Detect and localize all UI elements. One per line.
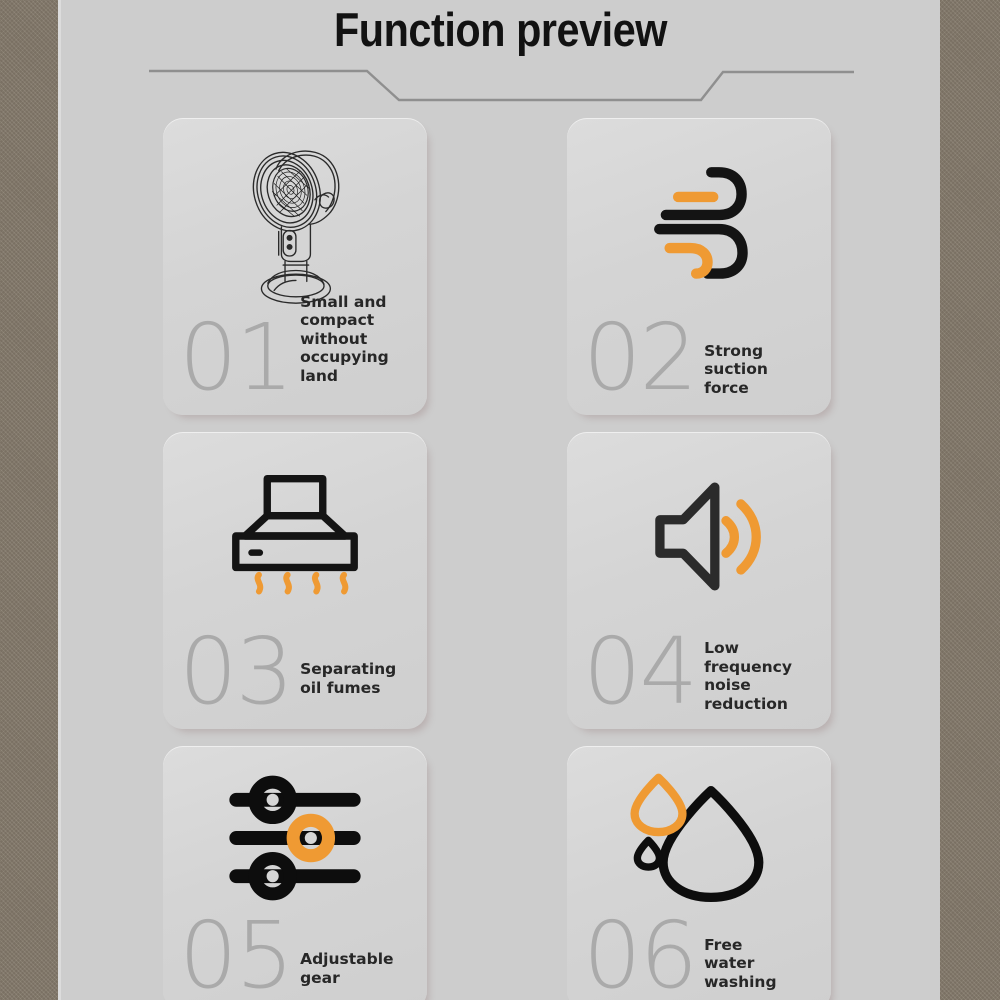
card-footer: 05 Adjustable gear <box>179 913 415 999</box>
feature-card-03[interactable]: 03 Separating oil fumes <box>163 432 427 729</box>
card-row-1: 01 Small and compact without occupying l… <box>163 118 831 415</box>
card-footer: 04 Low frequency noise reduction <box>583 629 819 715</box>
desk-fan-sketch-icon <box>163 132 427 312</box>
card-number: 04 <box>583 629 696 715</box>
feature-card-05[interactable]: 05 Adjustable gear <box>163 746 427 1000</box>
poster-page: Function preview <box>0 0 1000 1000</box>
feature-card-04[interactable]: 04 Low frequency noise reduction <box>567 432 831 729</box>
card-footer: 06 Free water washing <box>583 913 819 999</box>
card-number: 06 <box>583 913 696 999</box>
card-row-3: 05 Adjustable gear <box>163 746 831 1000</box>
slider-controls-icon <box>163 758 427 918</box>
water-droplets-icon <box>567 758 831 918</box>
card-footer: 02 Strong suction force <box>583 315 819 401</box>
card-caption: Low frequency noise reduction <box>696 639 819 715</box>
right-texture-band <box>940 0 1000 1000</box>
card-footer: 01 Small and compact without occupying l… <box>179 293 415 402</box>
card-caption: Strong suction force <box>696 342 819 402</box>
content-area: Function preview <box>61 0 940 1000</box>
left-texture-band <box>0 0 58 1000</box>
card-caption: Adjustable gear <box>292 950 415 999</box>
airflow-wind-icon <box>567 132 831 312</box>
feature-card-grid: 01 Small and compact without occupying l… <box>163 118 831 1000</box>
card-caption: Small and compact without occupying land <box>292 293 415 402</box>
card-row-2: 03 Separating oil fumes <box>163 432 831 729</box>
divider-line <box>149 62 854 108</box>
feature-card-01[interactable]: 01 Small and compact without occupying l… <box>163 118 427 415</box>
card-number: 03 <box>179 629 292 715</box>
card-number: 01 <box>179 315 292 401</box>
feature-card-02[interactable]: 02 Strong suction force <box>567 118 831 415</box>
card-caption: Separating oil fumes <box>292 660 415 715</box>
card-number: 05 <box>179 913 292 999</box>
feature-card-06[interactable]: 06 Free water washing <box>567 746 831 1000</box>
range-hood-icon <box>163 446 427 626</box>
page-title: Function preview <box>114 2 888 58</box>
card-caption: Free water washing <box>696 936 819 1000</box>
card-footer: 03 Separating oil fumes <box>179 629 415 715</box>
speaker-sound-wave-icon <box>567 446 831 626</box>
card-number: 02 <box>583 315 696 401</box>
